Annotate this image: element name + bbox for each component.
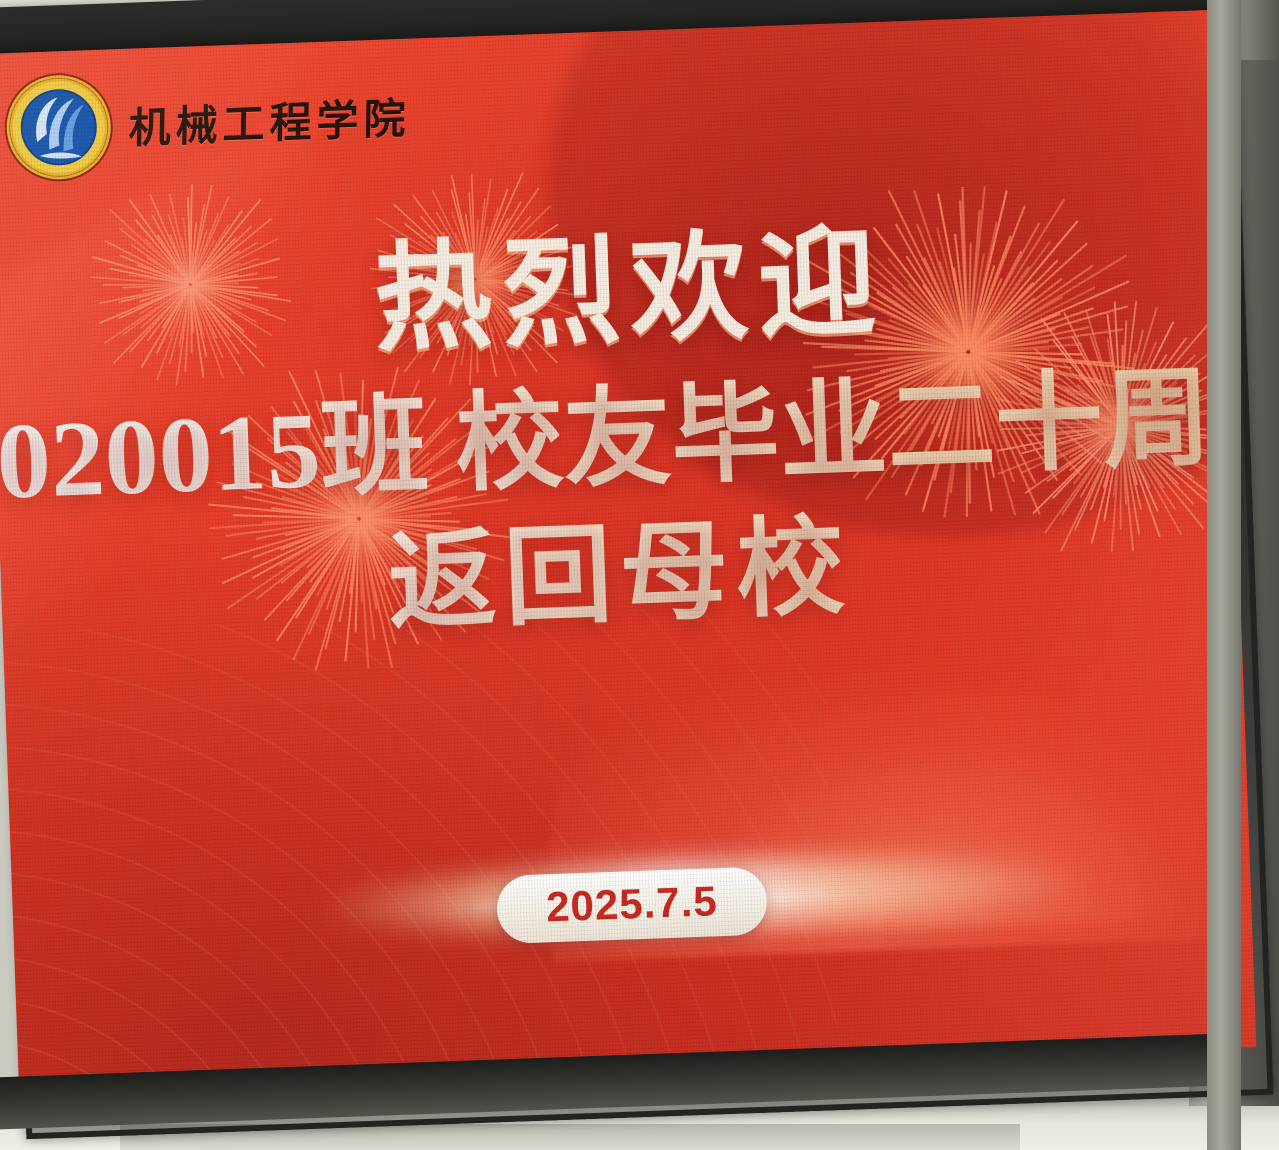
led-screen-panel: 机械工程学院 热烈欢迎 020015班 校友毕业二十周年 返回母校 2025.7… bbox=[0, 8, 1256, 1092]
college-header: 机械工程学院 bbox=[1, 59, 413, 186]
concentric-arc-pattern bbox=[0, 602, 851, 1091]
date-badge-label: 2025.7.5 bbox=[522, 879, 741, 929]
headline-block: 热烈欢迎 020015班 校友毕业二十周年 返回母校 bbox=[0, 208, 1241, 662]
college-name-label: 机械工程学院 bbox=[128, 84, 411, 155]
date-badge: 2025.7.5 bbox=[496, 866, 768, 944]
college-emblem-icon bbox=[1, 69, 117, 185]
photograph-of-led-screen: 机械工程学院 热烈欢迎 020015班 校友毕业二十周年 返回母校 2025.7… bbox=[0, 0, 1279, 1150]
bezel-right-edge bbox=[1207, 0, 1241, 1150]
